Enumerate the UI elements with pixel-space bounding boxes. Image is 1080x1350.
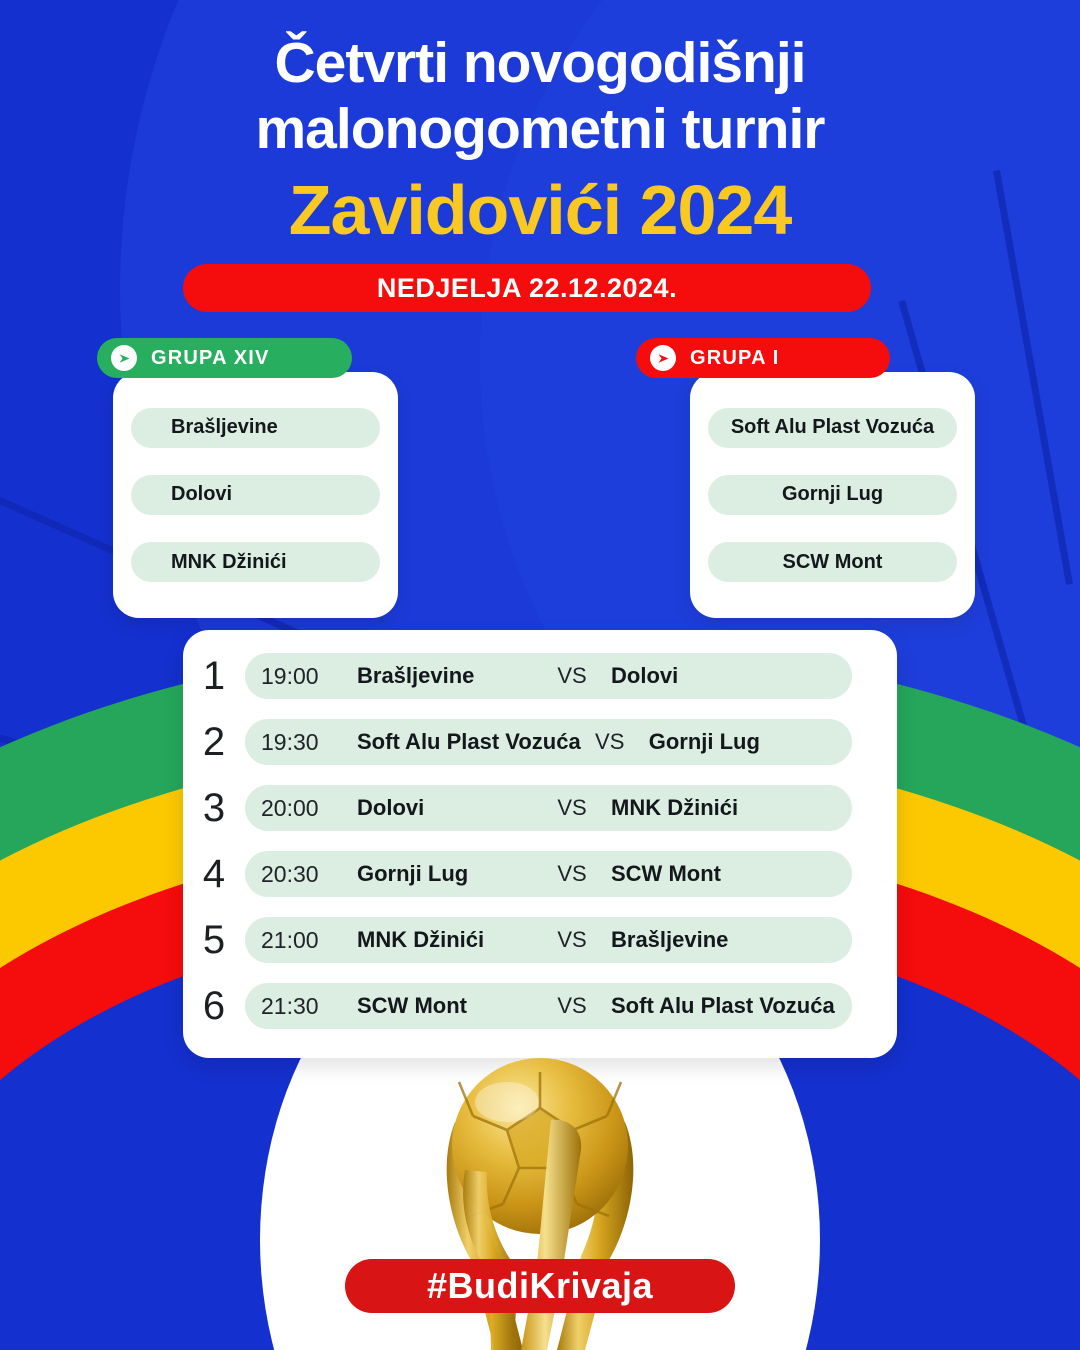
arrow-right-icon bbox=[650, 345, 676, 371]
hashtag-badge[interactable]: #BudiKrivaja bbox=[345, 1259, 735, 1313]
poster-title: Četvrti novogodišnji malonogometni turni… bbox=[0, 30, 1080, 162]
background-line-4 bbox=[0, 1030, 135, 1350]
match-pill[interactable]: 19:30 Soft Alu Plast Vozuća VS Gornji Lu… bbox=[245, 719, 852, 765]
match-row[interactable]: 3 20:00 Dolovi VS MNK Džinići bbox=[183, 780, 897, 836]
match-vs-label: VS bbox=[581, 729, 639, 755]
group-card-i: Soft Alu Plast Vozuća Gornji Lug SCW Mon… bbox=[690, 372, 975, 618]
match-row[interactable]: 4 20:30 Gornji Lug VS SCW Mont bbox=[183, 846, 897, 902]
poster-root: Četvrti novogodišnji malonogometni turni… bbox=[0, 0, 1080, 1350]
group-card-xiv: Brašljevine Dolovi MNK Džinići bbox=[113, 372, 398, 618]
match-pill[interactable]: 21:00 MNK Džinići VS Brašljevine bbox=[245, 917, 852, 963]
match-pill[interactable]: 21:30 SCW Mont VS Soft Alu Plast Vozuća bbox=[245, 983, 852, 1029]
team-pill[interactable]: Gornji Lug bbox=[708, 475, 957, 515]
match-vs-label: VS bbox=[543, 663, 601, 689]
match-home-team: Brašljevine bbox=[347, 663, 543, 689]
match-vs-label: VS bbox=[543, 795, 601, 821]
group-badge-xiv[interactable]: GRUPA XIV bbox=[97, 338, 352, 378]
team-pill[interactable]: MNK Džinići bbox=[131, 542, 380, 582]
match-away-team: Brašljevine bbox=[601, 927, 728, 953]
group-badge-xiv-label: GRUPA XIV bbox=[151, 347, 270, 370]
match-time: 20:30 bbox=[261, 861, 347, 888]
match-schedule-panel: 1 19:00 Brašljevine VS Dolovi 2 19:30 So… bbox=[183, 630, 897, 1058]
match-row[interactable]: 5 21:00 MNK Džinići VS Brašljevine bbox=[183, 912, 897, 968]
match-pill[interactable]: 20:30 Gornji Lug VS SCW Mont bbox=[245, 851, 852, 897]
title-line-1: Četvrti novogodišnji bbox=[274, 31, 805, 95]
match-row[interactable]: 1 19:00 Brašljevine VS Dolovi bbox=[183, 648, 897, 704]
match-home-team: Soft Alu Plast Vozuća bbox=[347, 729, 581, 755]
match-number: 6 bbox=[183, 986, 245, 1026]
match-away-team: MNK Džinići bbox=[601, 795, 738, 821]
match-vs-label: VS bbox=[543, 993, 601, 1019]
match-time: 19:00 bbox=[261, 663, 347, 690]
match-home-team: Dolovi bbox=[347, 795, 543, 821]
match-row[interactable]: 2 19:30 Soft Alu Plast Vozuća VS Gornji … bbox=[183, 714, 897, 770]
team-pill[interactable]: SCW Mont bbox=[708, 542, 957, 582]
arrow-right-icon bbox=[111, 345, 137, 371]
match-number: 1 bbox=[183, 656, 245, 696]
group-badge-i-label: GRUPA I bbox=[690, 347, 780, 370]
match-time: 21:30 bbox=[261, 993, 347, 1020]
match-row[interactable]: 6 21:30 SCW Mont VS Soft Alu Plast Vozuć… bbox=[183, 978, 897, 1034]
match-away-team: SCW Mont bbox=[601, 861, 721, 887]
match-away-team: Dolovi bbox=[601, 663, 678, 689]
match-time: 21:00 bbox=[261, 927, 347, 954]
date-banner: NEDJELJA 22.12.2024. bbox=[183, 264, 871, 312]
poster-subtitle: Zavidovići 2024 bbox=[0, 172, 1080, 248]
match-home-team: MNK Džinići bbox=[347, 927, 543, 953]
match-number: 3 bbox=[183, 788, 245, 828]
match-vs-label: VS bbox=[543, 927, 601, 953]
team-pill[interactable]: Soft Alu Plast Vozuća bbox=[708, 408, 957, 448]
match-time: 20:00 bbox=[261, 795, 347, 822]
match-away-team: Gornji Lug bbox=[639, 729, 760, 755]
title-line-2: malonogometni turnir bbox=[0, 96, 1080, 162]
match-home-team: SCW Mont bbox=[347, 993, 543, 1019]
match-time: 19:30 bbox=[261, 729, 347, 756]
team-pill[interactable]: Brašljevine bbox=[131, 408, 380, 448]
match-number: 5 bbox=[183, 920, 245, 960]
match-pill[interactable]: 20:00 Dolovi VS MNK Džinići bbox=[245, 785, 852, 831]
match-vs-label: VS bbox=[543, 861, 601, 887]
group-badge-i[interactable]: GRUPA I bbox=[636, 338, 890, 378]
match-number: 4 bbox=[183, 854, 245, 894]
match-home-team: Gornji Lug bbox=[347, 861, 543, 887]
match-number: 2 bbox=[183, 722, 245, 762]
team-pill[interactable]: Dolovi bbox=[131, 475, 380, 515]
match-away-team: Soft Alu Plast Vozuća bbox=[601, 993, 835, 1019]
match-pill[interactable]: 19:00 Brašljevine VS Dolovi bbox=[245, 653, 852, 699]
